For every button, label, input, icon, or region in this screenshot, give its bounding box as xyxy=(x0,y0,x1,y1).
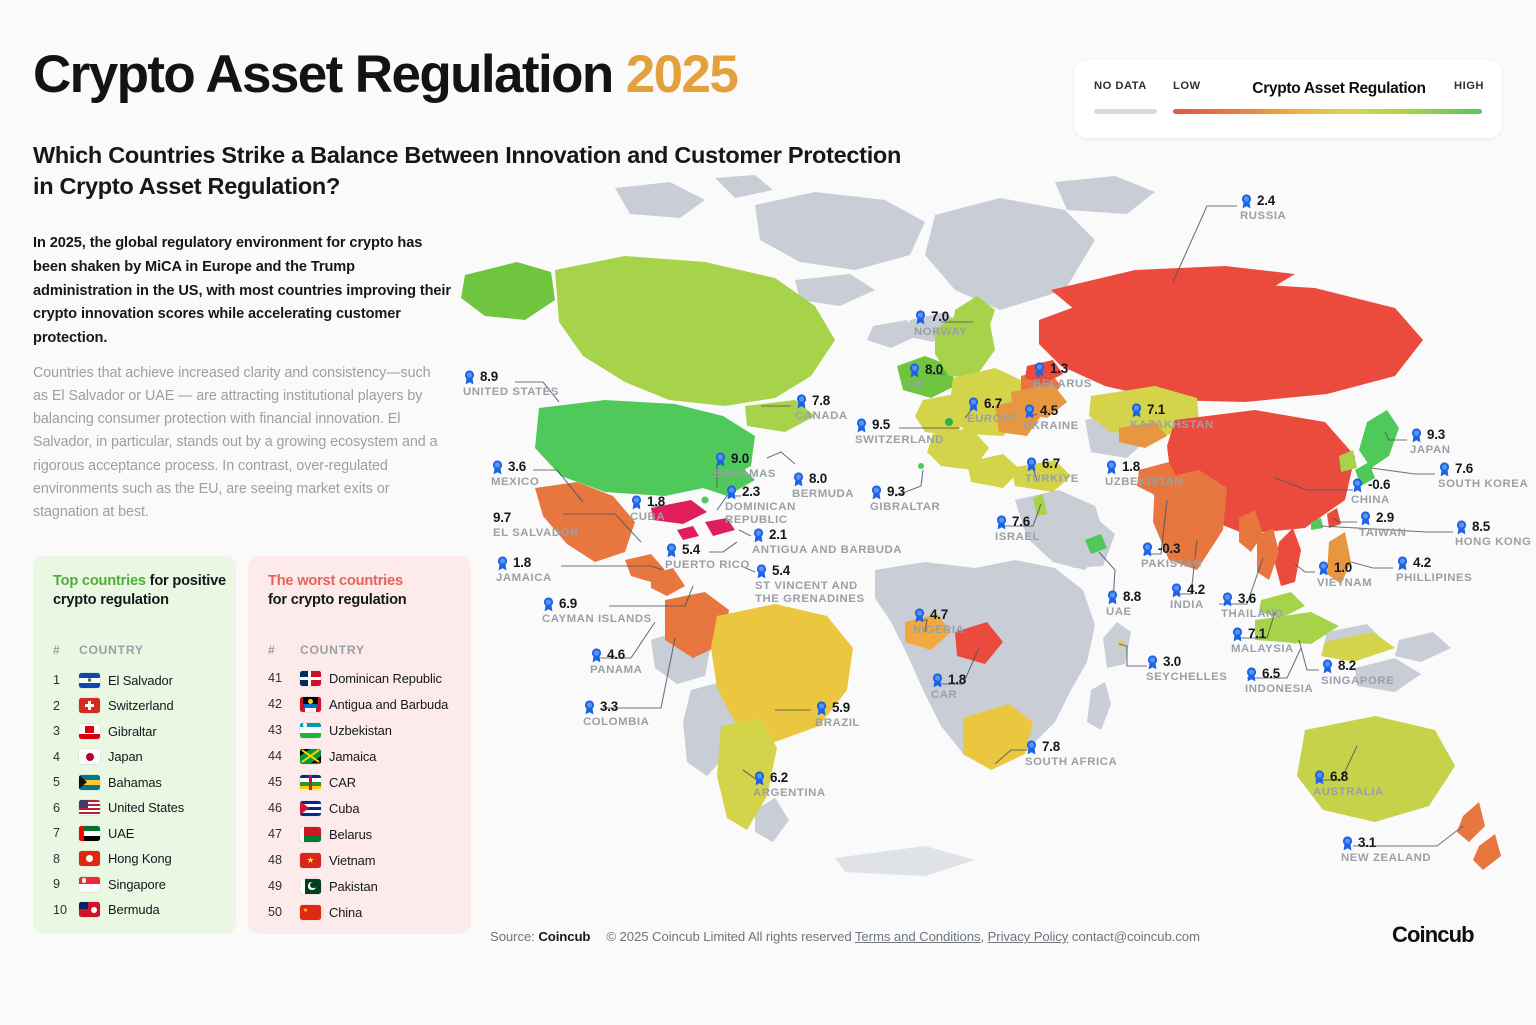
list-item-rank: 4 xyxy=(53,750,79,764)
terms-and-conditions-link[interactable]: Terms and Conditions, xyxy=(855,929,984,944)
list-item-country: UAE xyxy=(108,826,134,841)
flag-icon xyxy=(300,879,321,894)
list-item[interactable]: 7UAE xyxy=(53,820,134,846)
list-item-rank: 42 xyxy=(268,697,300,711)
list-item-country: Japan xyxy=(108,749,143,764)
legend-low-label: LOW xyxy=(1173,80,1201,92)
list-item-rank: 45 xyxy=(268,775,300,789)
world-map-svg xyxy=(455,170,1520,910)
worst-panel-col-country: COUNTRY xyxy=(300,643,365,657)
legend-labels: NO DATA LOW Crypto Asset Regulation HIGH xyxy=(1074,80,1502,102)
contact-email: contact@coincub.com xyxy=(1072,929,1200,944)
list-item-rank: 7 xyxy=(53,826,79,840)
flag-icon xyxy=(300,697,321,712)
flag-icon xyxy=(300,671,321,686)
list-item[interactable]: 49Pakistan xyxy=(268,873,378,899)
legend-gradient-bar xyxy=(1173,109,1482,114)
flag-icon xyxy=(79,800,100,815)
list-item-rank: 49 xyxy=(268,879,300,893)
legend-high-label: HIGH xyxy=(1454,80,1484,92)
list-item-country: Gibraltar xyxy=(108,724,157,739)
list-item-country: Hong Kong xyxy=(108,851,172,866)
list-item[interactable]: 50China xyxy=(268,899,362,925)
footer: Source: Coincub© 2025 Coincub Limited Al… xyxy=(490,929,1200,944)
coincub-logo: Coincub xyxy=(1392,922,1474,948)
flag-icon xyxy=(300,853,321,868)
list-item[interactable]: 9Singapore xyxy=(53,871,166,897)
list-item-country: Cuba xyxy=(329,801,359,816)
flag-icon xyxy=(79,877,100,892)
list-item[interactable]: 46Cuba xyxy=(268,795,359,821)
list-item-rank: 1 xyxy=(53,673,79,687)
list-item-rank: 9 xyxy=(53,877,79,891)
flag-icon xyxy=(300,775,321,790)
top-panel-col-rank: # xyxy=(53,643,60,657)
flag-icon xyxy=(79,851,100,866)
flag-icon xyxy=(79,749,100,764)
flag-icon xyxy=(79,826,100,841)
flag-icon xyxy=(300,827,321,842)
list-item-rank: 46 xyxy=(268,801,300,815)
list-item-rank: 2 xyxy=(53,699,79,713)
legend-no-data-swatch xyxy=(1094,109,1157,114)
worst-panel-heading-rest: for crypto regulation xyxy=(268,592,407,608)
body-paragraph: Countries that achieve increased clarity… xyxy=(33,362,445,524)
list-item-country: Singapore xyxy=(108,877,166,892)
flag-icon xyxy=(300,723,321,738)
top-panel-col-country: COUNTRY xyxy=(79,643,144,657)
infographic-root: Crypto Asset Regulation 2025 Which Count… xyxy=(0,0,1536,1025)
list-item-country: El Salvador xyxy=(108,673,173,688)
list-item-country: CAR xyxy=(329,775,356,790)
flag-icon xyxy=(79,673,100,688)
privacy-policy-link[interactable]: Privacy Policy xyxy=(988,929,1069,944)
list-item-country: Uzbekistan xyxy=(329,723,392,738)
list-item[interactable]: 3Gibraltar xyxy=(53,718,157,744)
list-item-rank: 50 xyxy=(268,905,300,919)
list-item-rank: 10 xyxy=(53,903,79,917)
list-item-rank: 43 xyxy=(268,723,300,737)
title-year: 2025 xyxy=(626,45,738,104)
list-item[interactable]: 1El Salvador xyxy=(53,667,173,693)
list-item-rank: 8 xyxy=(53,852,79,866)
list-item-country: Switzerland xyxy=(108,698,174,713)
list-item-country: Pakistan xyxy=(329,879,378,894)
worst-panel-heading: The worst countriesfor crypto regulation xyxy=(268,572,448,609)
list-item[interactable]: 41Dominican Republic xyxy=(268,665,442,691)
list-item[interactable]: 44Jamaica xyxy=(268,743,376,769)
list-item[interactable]: 10Bermuda xyxy=(53,897,160,923)
legend-title: Crypto Asset Regulation xyxy=(1224,80,1454,98)
top-countries-panel: Top countries for positive crypto regula… xyxy=(33,556,236,934)
title-main: Crypto Asset Regulation xyxy=(33,45,613,104)
list-item-country: Antigua and Barbuda xyxy=(329,697,448,712)
list-item[interactable]: 47Belarus xyxy=(268,821,372,847)
footer-source-name: Coincub xyxy=(538,929,590,944)
list-item-country: United States xyxy=(108,800,184,815)
list-item[interactable]: 48Vietnam xyxy=(268,847,375,873)
worst-panel-heading-highlight: The worst countries xyxy=(268,573,403,589)
flag-icon xyxy=(300,801,321,816)
list-item[interactable]: 8Hong Kong xyxy=(53,846,172,872)
list-item[interactable]: 5Bahamas xyxy=(53,769,162,795)
list-item-country: China xyxy=(329,905,362,920)
flag-icon xyxy=(79,902,100,917)
flag-icon xyxy=(300,749,321,764)
footer-source-prefix: Source: xyxy=(490,929,535,944)
flag-icon xyxy=(300,905,321,920)
list-item-rank: 48 xyxy=(268,853,300,867)
list-item[interactable]: 42Antigua and Barbuda xyxy=(268,691,448,717)
list-item[interactable]: 45CAR xyxy=(268,769,356,795)
list-item-rank: 47 xyxy=(268,827,300,841)
list-item-rank: 5 xyxy=(53,775,79,789)
worst-panel-col-rank: # xyxy=(268,643,275,657)
list-item-country: Vietnam xyxy=(329,853,375,868)
list-item-country: Bahamas xyxy=(108,775,162,790)
list-item[interactable]: 2Switzerland xyxy=(53,693,174,719)
list-item-country: Dominican Republic xyxy=(329,671,442,686)
list-item-rank: 3 xyxy=(53,724,79,738)
flag-icon xyxy=(79,698,100,713)
top-panel-heading-highlight: Top countries xyxy=(53,573,146,589)
top-panel-heading: Top countries for positive crypto regula… xyxy=(53,572,233,609)
list-item[interactable]: 4Japan xyxy=(53,744,143,770)
world-map: 8.9UNITED STATES7.8CANADA3.6MEXICO9.7EL … xyxy=(455,170,1520,910)
list-item-rank: 6 xyxy=(53,801,79,815)
legend: NO DATA LOW Crypto Asset Regulation HIGH xyxy=(1074,60,1502,138)
page-title: Crypto Asset Regulation 2025 xyxy=(33,48,737,101)
legend-no-data-label: NO DATA xyxy=(1094,80,1147,92)
lead-paragraph: In 2025, the global regulatory environme… xyxy=(33,232,458,351)
worst-countries-panel: The worst countriesfor crypto regulation… xyxy=(248,556,471,934)
list-item-country: Bermuda xyxy=(108,902,160,917)
flag-icon xyxy=(79,775,100,790)
list-item-rank: 44 xyxy=(268,749,300,763)
list-item-country: Belarus xyxy=(329,827,372,842)
footer-copyright: © 2025 Coincub Limited All rights reserv… xyxy=(606,929,851,944)
list-item[interactable]: 6United States xyxy=(53,795,184,821)
map-countries-scored xyxy=(461,256,1501,870)
list-item-country: Jamaica xyxy=(329,749,376,764)
flag-icon xyxy=(79,724,100,739)
list-item[interactable]: 43Uzbekistan xyxy=(268,717,392,743)
list-item-rank: 41 xyxy=(268,671,300,685)
